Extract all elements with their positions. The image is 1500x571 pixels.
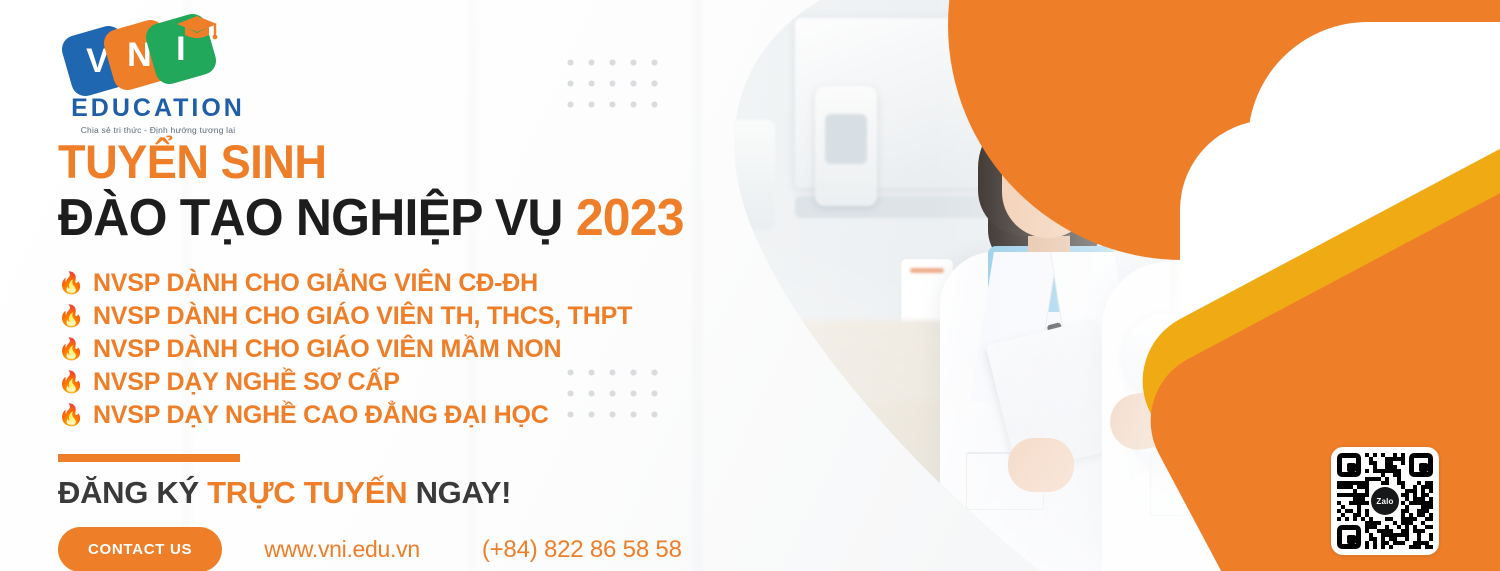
headline-line-1: TUYỂN SINH [58,138,730,185]
fire-icon: 🔥 [58,273,84,294]
qr-module [1373,453,1377,457]
qr-module [1429,505,1433,509]
list-item: 🔥 NVSP DẠY NGHỀ CAO ĐẲNG ĐẠI HỌC [58,399,758,432]
list-item: 🔥 NVSP DÀNH CHO GIÁO VIÊN TH, THCS, THPT [58,300,758,333]
fire-icon: 🔥 [58,372,84,393]
contact-row: CONTACT US www.vni.edu.vn (+84) 822 86 5… [58,527,758,571]
qr-module [1429,545,1433,549]
qr-module [1405,537,1409,541]
headline-line-2-text: ĐÀO TẠO NGHIỆP VỤ [58,189,563,247]
phone-number[interactable]: (+84) 822 86 58 58 [482,536,682,564]
qr-matrix: Zalo [1337,453,1433,549]
logo-letter-marks: V N I [66,24,216,88]
qr-module [1421,529,1425,533]
qr-module [1429,537,1433,541]
zalo-qr-code[interactable]: Zalo [1331,447,1439,555]
dot-grid-top [560,52,666,116]
program-list: 🔥 NVSP DÀNH CHO GIẢNG VIÊN CĐ-ĐH 🔥 NVSP … [58,267,758,432]
qr-module [1385,481,1389,485]
qr-module [1389,545,1393,549]
qr-module [1381,545,1385,549]
qr-finder-bottom-left [1337,525,1361,549]
vni-education-logo[interactable]: V N I EDUCATION Chia sẻ tri thức - Định … [58,24,258,135]
list-item-label: NVSP DÀNH CHO GIÁO VIÊN TH, THCS, THPT [93,300,632,333]
headline-line-2: ĐÀO TẠO NGHIỆP VỤ 2023 [58,189,730,247]
list-item-label: NVSP DÀNH CHO GIÁO VIÊN MẦM NON [93,333,561,366]
qr-module [1417,545,1421,549]
graduation-cap-icon [174,14,220,40]
list-item-label: NVSP DÀNH CHO GIẢNG VIÊN CĐ-ĐH [93,267,538,300]
accent-divider [58,454,240,462]
headline-year: 2023 [576,189,684,247]
list-item: 🔥 NVSP DÀNH CHO GIÁO VIÊN MẦM NON [58,333,758,366]
qr-module [1401,541,1405,545]
list-item: 🔥 NVSP DẠY NGHỀ SƠ CẤP [58,366,758,399]
logo-wordmark: EDUCATION [58,94,258,123]
qr-module [1373,545,1377,549]
website-link[interactable]: www.vni.edu.vn [264,536,420,563]
qr-module [1413,517,1417,521]
qr-module [1365,493,1369,497]
list-item: 🔥 NVSP DÀNH CHO GIẢNG VIÊN CĐ-ĐH [58,267,758,300]
qr-module [1429,525,1433,529]
qr-module [1365,545,1369,549]
cta-highlight: TRỰC TUYẾN [207,475,407,510]
qr-finder-top-right [1409,453,1433,477]
list-item-label: NVSP DẠY NGHỀ CAO ĐẲNG ĐẠI HỌC [93,399,549,432]
qr-module [1365,501,1369,505]
qr-module [1337,517,1341,521]
qr-module [1345,517,1349,521]
cta-headline: ĐĂNG KÝ TRỰC TUYẾN NGAY! [58,475,758,511]
qr-center-logo: Zalo [1371,487,1399,515]
contact-us-button[interactable]: CONTACT US [58,527,222,571]
promo-banner: Zalo V N I EDUCATION Chia sẻ tri thức - … [0,0,1500,571]
fire-icon: 🔥 [58,339,84,360]
logo-tagline: Chia sẻ tri thức - Định hướng tương lai [58,125,258,135]
cta-suffix: NGAY! [407,475,511,510]
fire-icon: 🔥 [58,405,84,426]
qr-module [1429,517,1433,521]
fire-icon: 🔥 [58,306,84,327]
qr-finder-top-left [1337,453,1361,477]
qr-module [1401,461,1405,465]
qr-module [1365,469,1369,473]
qr-module [1353,517,1357,521]
cta-prefix: ĐĂNG KÝ [58,475,207,510]
banner-copy: TUYỂN SINH ĐÀO TẠO NGHIỆP VỤ 2023 🔥 NVSP… [58,138,758,571]
qr-module [1377,521,1381,525]
qr-module [1429,489,1433,493]
list-item-label: NVSP DẠY NGHỀ SƠ CẤP [93,366,400,399]
